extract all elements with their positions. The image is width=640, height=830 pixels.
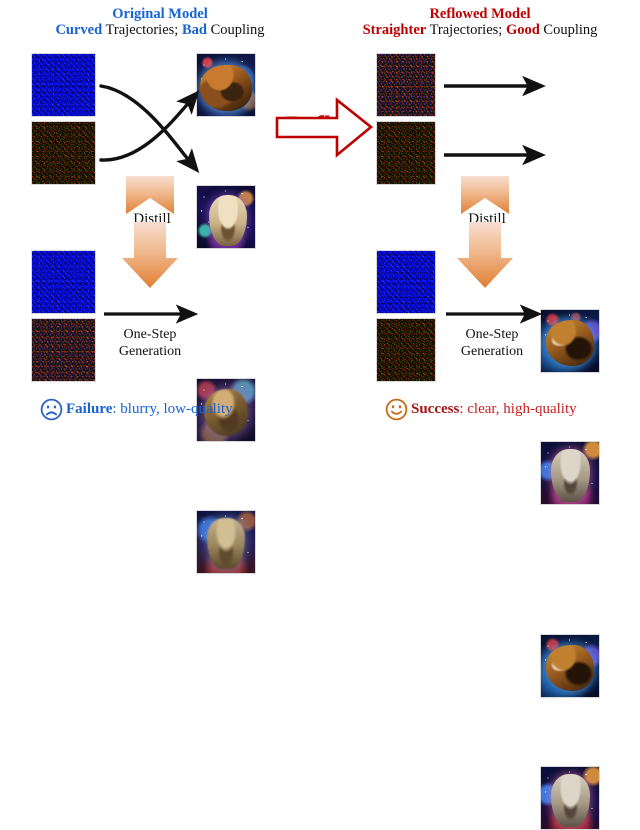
left-generation-label: One-Step Generation bbox=[106, 327, 194, 361]
left-heading-emph-1: Curved bbox=[55, 22, 102, 38]
left-output-panel-top bbox=[196, 53, 256, 117]
dog-subject bbox=[546, 320, 595, 366]
right-distilled-output-bottom bbox=[540, 766, 600, 830]
right-status-detail: : clear, high-quality bbox=[459, 401, 576, 417]
left-generation-line1: One-Step bbox=[124, 327, 177, 342]
reflow-label: Reflow bbox=[286, 112, 362, 140]
figure-canvas: Original Model Curved Trajectories; Bad … bbox=[0, 0, 640, 436]
dog-subject bbox=[209, 195, 247, 246]
right-distill-arrow bbox=[457, 176, 513, 288]
right-distilled-output-top bbox=[540, 634, 600, 698]
left-status-text: Failure: blurry, low-quality bbox=[66, 401, 233, 418]
left-heading-emph-2: Bad bbox=[182, 22, 207, 38]
smiling-face-icon bbox=[385, 398, 408, 421]
right-heading-emph-1: Straighter bbox=[363, 22, 427, 38]
right-status-text: Success: clear, high-quality bbox=[411, 401, 577, 418]
left-distilled-noise-bottom bbox=[31, 318, 96, 382]
left-heading-title: Original Model bbox=[0, 6, 320, 22]
right-status-verdict: Success bbox=[411, 401, 459, 417]
left-distilled-output-bottom bbox=[196, 510, 256, 574]
left-status-row: Failure: blurry, low-quality bbox=[40, 398, 233, 421]
left-heading-plain-1: Trajectories; bbox=[102, 22, 182, 38]
right-heading-title: Reflowed Model bbox=[320, 6, 640, 22]
left-output-panel-bottom bbox=[196, 185, 256, 249]
left-noise-panel-top bbox=[31, 53, 96, 117]
left-noise-panel-bottom bbox=[31, 121, 96, 185]
left-crossed-coupling-arrows bbox=[101, 86, 191, 163]
right-generation-label: One-Step Generation bbox=[448, 327, 536, 361]
right-heading-plain-1: Trajectories; bbox=[426, 22, 506, 38]
left-status-detail: : blurry, low-quality bbox=[112, 401, 232, 417]
right-generation-line1: One-Step bbox=[466, 327, 519, 342]
right-noise-panel-top bbox=[376, 53, 436, 117]
dog-subject bbox=[207, 518, 244, 569]
left-heading-subtitle: Curved Trajectories; Bad Coupling bbox=[0, 22, 320, 38]
dog-subject bbox=[551, 774, 589, 826]
right-noise-panel-bottom bbox=[376, 121, 436, 185]
dog-subject bbox=[200, 65, 251, 111]
left-distill-arrow bbox=[122, 176, 178, 288]
right-distilled-noise-top bbox=[376, 250, 436, 314]
right-heading-plain-2: Coupling bbox=[540, 22, 598, 38]
right-distill-label: Distill bbox=[452, 211, 522, 228]
left-distill-label: Distill bbox=[117, 211, 187, 228]
right-output-panel-bottom bbox=[540, 441, 600, 505]
left-column-heading: Original Model Curved Trajectories; Bad … bbox=[0, 6, 320, 38]
frowning-face-icon bbox=[40, 398, 63, 421]
right-distilled-noise-bottom bbox=[376, 318, 436, 382]
left-heading-plain-2: Coupling bbox=[207, 22, 265, 38]
right-generation-line2: Generation bbox=[461, 344, 523, 359]
right-heading-subtitle: Straighter Trajectories; Good Coupling bbox=[320, 22, 640, 38]
left-status-verdict: Failure bbox=[66, 401, 112, 417]
right-heading-emph-2: Good bbox=[506, 22, 540, 38]
dog-subject bbox=[546, 645, 595, 691]
right-straight-coupling-arrows bbox=[444, 86, 533, 155]
left-generation-line2: Generation bbox=[119, 344, 181, 359]
right-column-heading: Reflowed Model Straighter Trajectories; … bbox=[320, 6, 640, 38]
right-status-row: Success: clear, high-quality bbox=[385, 398, 577, 421]
left-distilled-noise-top bbox=[31, 250, 96, 314]
dog-subject bbox=[551, 449, 589, 501]
right-output-panel-top bbox=[540, 309, 600, 373]
